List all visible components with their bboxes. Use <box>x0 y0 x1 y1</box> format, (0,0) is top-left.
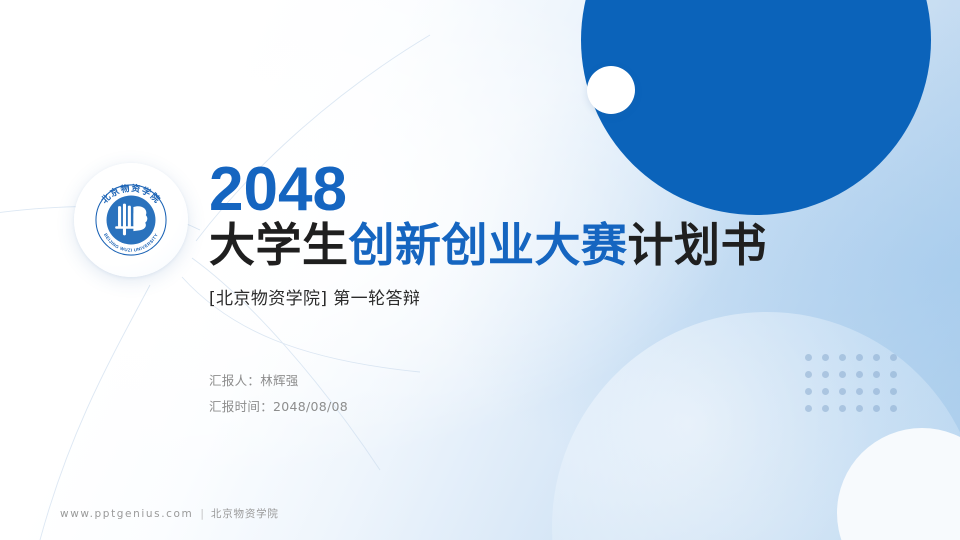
year-heading: 2048 <box>209 160 849 220</box>
title-slide: 北京物资学院 BEIJING WUZI UNIVERSITY 2048 大学生创… <box>0 0 960 540</box>
footer-organization: 北京物资学院 <box>211 506 279 521</box>
subtitle: [北京物资学院] 第一轮答辩 <box>209 284 849 309</box>
headline-tail: 计划书 <box>628 218 768 272</box>
decorative-white-dot-circle <box>587 66 635 114</box>
main-headline: 大学生创新创业大赛计划书 <box>209 221 849 271</box>
date-line: 汇报时间：2048/08/08 <box>209 396 348 415</box>
footer-separator: | <box>200 508 204 520</box>
footer: www.pptgenius.com | 北京物资学院 <box>60 506 279 521</box>
headline-accent: 创新创业大赛 <box>349 218 628 272</box>
presenter-line: 汇报人：林辉强 <box>209 370 348 389</box>
footer-url[interactable]: www.pptgenius.com <box>60 508 193 520</box>
headline-lead: 大学生 <box>209 218 349 272</box>
presentation-meta: 汇报人：林辉强 汇报时间：2048/08/08 <box>209 370 348 422</box>
university-logo-badge: 北京物资学院 BEIJING WUZI UNIVERSITY <box>74 163 188 277</box>
university-logo: 北京物资学院 BEIJING WUZI UNIVERSITY <box>83 172 179 268</box>
decorative-dot-grid <box>805 354 907 422</box>
title-block: 2048 大学生创新创业大赛计划书 [北京物资学院] 第一轮答辩 <box>209 160 849 309</box>
logo-inner-disc <box>107 196 156 245</box>
